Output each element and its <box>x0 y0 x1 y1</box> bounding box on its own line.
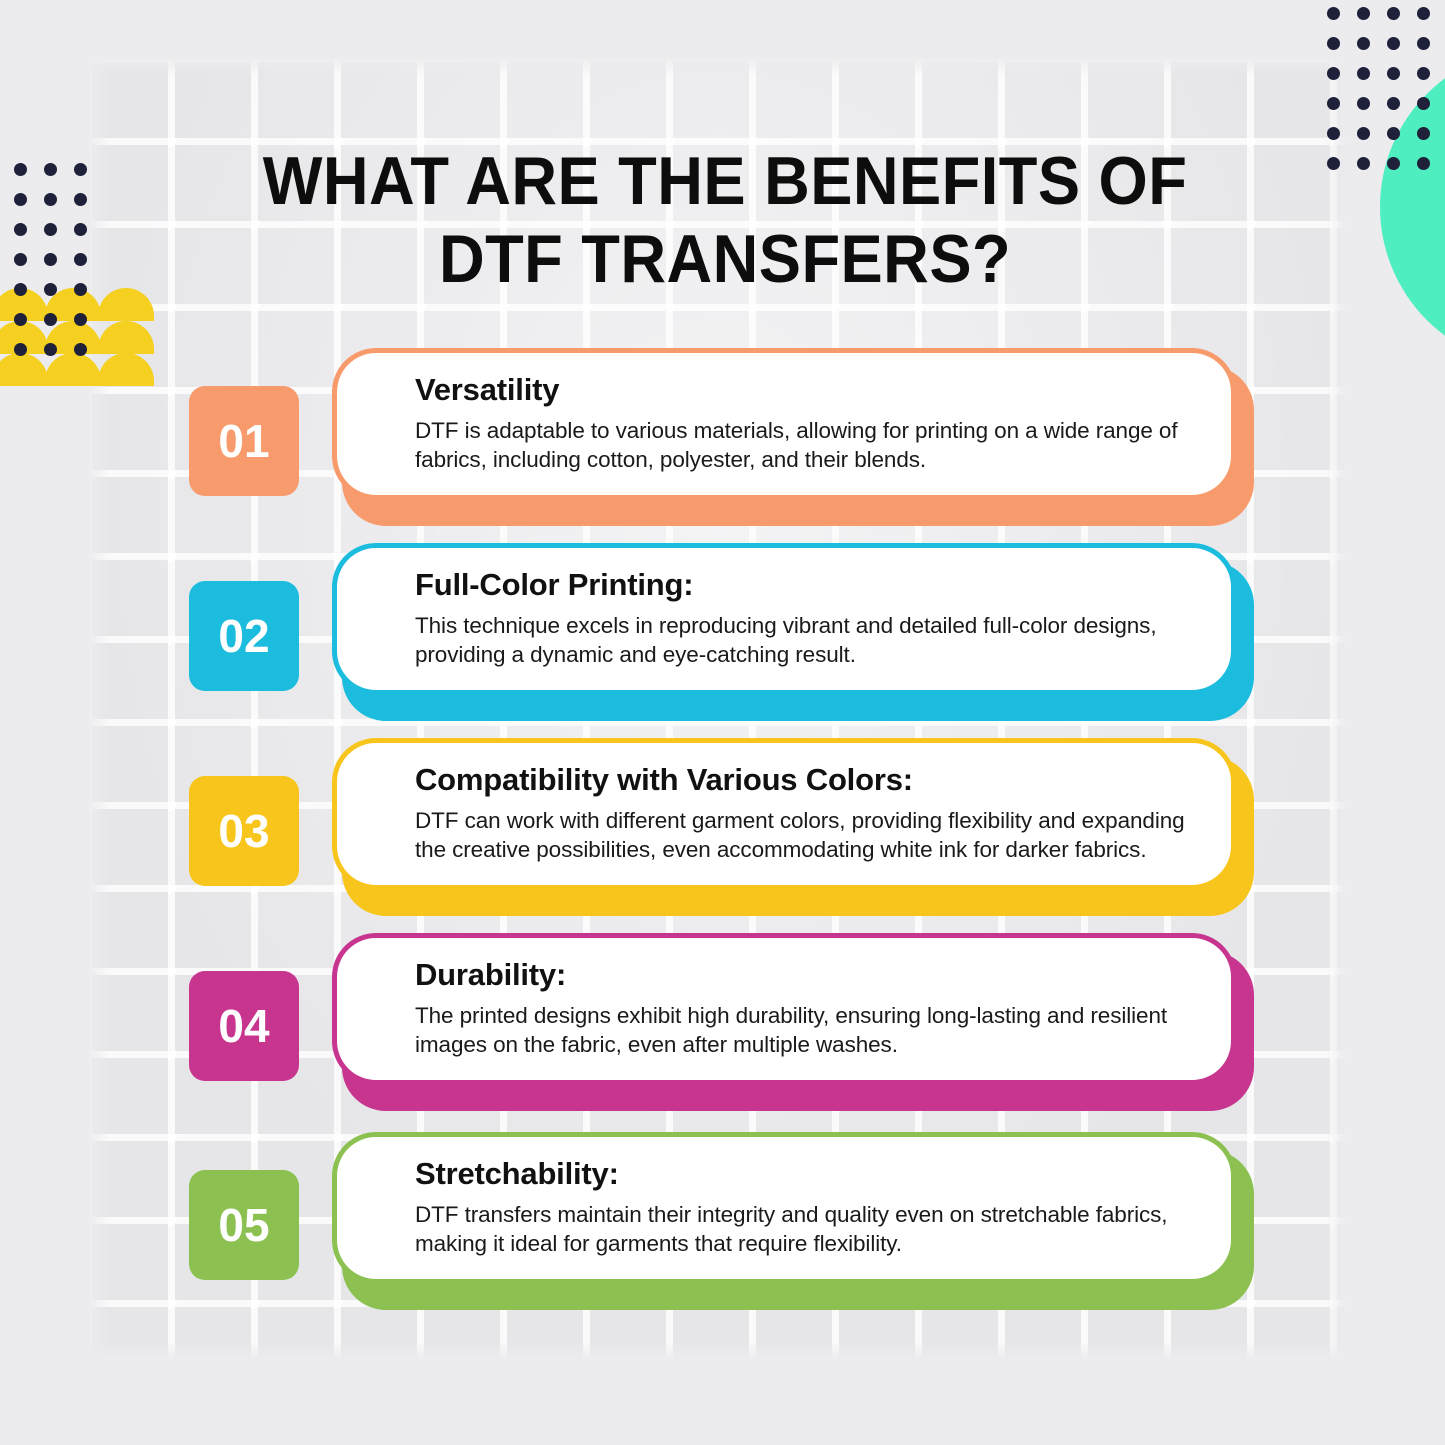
benefit-description: The printed designs exhibit high durabil… <box>415 1001 1201 1059</box>
benefit-number-badge: 02 <box>189 581 299 691</box>
benefit-card-surface: Compatibility with Various Colors:DTF ca… <box>332 738 1236 890</box>
benefit-title: Full-Color Printing: <box>415 566 1201 604</box>
benefit-row: 04Durability:The printed designs exhibit… <box>0 929 1445 1124</box>
benefit-number-badge: 01 <box>189 386 299 496</box>
benefit-number-badge: 05 <box>189 1170 299 1280</box>
benefit-card: Durability:The printed designs exhibit h… <box>332 933 1254 1111</box>
benefit-card: Compatibility with Various Colors:DTF ca… <box>332 738 1254 916</box>
infographic-poster: WHAT ARE THE BENEFITS OF DTF TRANSFERS? … <box>0 0 1445 1445</box>
benefit-title: Durability: <box>415 956 1201 994</box>
benefit-card-surface: Full-Color Printing:This technique excel… <box>332 543 1236 695</box>
benefit-title: Compatibility with Various Colors: <box>415 761 1201 799</box>
benefit-title: Stretchability: <box>415 1155 1201 1193</box>
benefit-title: Versatility <box>415 371 1201 409</box>
benefit-card-surface: VersatilityDTF is adaptable to various m… <box>332 348 1236 500</box>
benefit-row: 01VersatilityDTF is adaptable to various… <box>0 344 1445 539</box>
benefit-card-surface: Stretchability:DTF transfers maintain th… <box>332 1132 1236 1284</box>
benefit-card: VersatilityDTF is adaptable to various m… <box>332 348 1254 526</box>
benefit-card: Stretchability:DTF transfers maintain th… <box>332 1132 1254 1310</box>
benefit-description: This technique excels in reproducing vib… <box>415 611 1201 669</box>
benefit-description: DTF is adaptable to various materials, a… <box>415 416 1201 474</box>
benefit-row: 05Stretchability:DTF transfers maintain … <box>0 1128 1445 1323</box>
benefit-number-badge: 04 <box>189 971 299 1081</box>
benefit-description: DTF transfers maintain their integrity a… <box>415 1200 1201 1258</box>
benefits-list: 01VersatilityDTF is adaptable to various… <box>0 0 1445 1445</box>
benefit-description: DTF can work with different garment colo… <box>415 806 1201 864</box>
benefit-row: 03Compatibility with Various Colors:DTF … <box>0 734 1445 929</box>
benefit-row: 02Full-Color Printing:This technique exc… <box>0 539 1445 734</box>
benefit-card: Full-Color Printing:This technique excel… <box>332 543 1254 721</box>
benefit-number-badge: 03 <box>189 776 299 886</box>
benefit-card-surface: Durability:The printed designs exhibit h… <box>332 933 1236 1085</box>
